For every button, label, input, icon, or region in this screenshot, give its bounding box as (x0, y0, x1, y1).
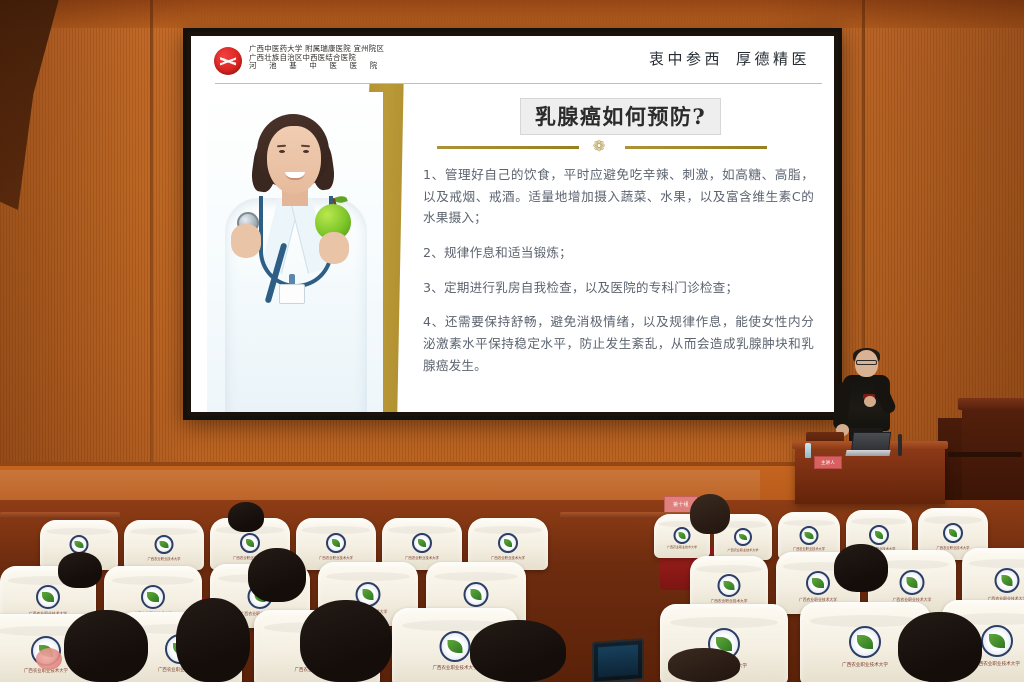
title-divider: ❁ (437, 140, 767, 154)
slide-paragraph-3: 3、定期进行乳房自我检查，以及医院的专科门诊检查； (423, 277, 814, 299)
seat-logo-icon (995, 568, 1020, 593)
seat-logo-text: 广西农业职业技术大学 (405, 555, 439, 560)
seat-logo-icon (900, 570, 925, 595)
audience-head (300, 600, 392, 682)
audience-head (248, 548, 306, 602)
hand-right (319, 232, 349, 264)
laptop-screen (851, 432, 891, 452)
presentation-slide: 广西中医药大学 附属瑞康医院 宜州院区 广西壮族自治区中西医结合医院 河 池 基… (191, 36, 834, 412)
laptop-keyboard (845, 450, 890, 456)
water-bottle (805, 443, 811, 458)
seat-logo-icon (674, 527, 691, 544)
seat-logo-text: 广西农业职业技术大学 (842, 662, 888, 668)
seat-logo-icon (326, 533, 346, 553)
seat-logo-text: 广西农业职业技术大学 (667, 545, 697, 549)
audience-head (176, 598, 250, 682)
divider-bar-left (437, 146, 579, 149)
hospital-name-line-3: 河 池 基 中 医 医 院 (249, 62, 579, 71)
slide-title: 乳腺癌如何预防? (520, 98, 721, 135)
audience-head (58, 552, 102, 588)
seat-logo-icon (806, 571, 830, 595)
speaker-nameplate: 主讲人 (814, 456, 842, 469)
seat-logo-icon (412, 533, 432, 553)
group-number-text: 第十组 (673, 501, 689, 508)
seat-logo-text: 广西农业职业技术大学 (148, 556, 181, 561)
audience-head (470, 620, 566, 682)
microphone-icon (898, 434, 902, 456)
seat-logo-icon (869, 525, 889, 545)
face (267, 126, 321, 194)
hospital-logo-icon (214, 47, 242, 75)
slide-slogan: 衷中参西厚德精医 (649, 48, 810, 69)
eye-right (303, 150, 309, 153)
audience-head (64, 610, 148, 682)
seat-logo-icon (981, 625, 1013, 657)
seat-logo-icon (36, 585, 60, 609)
seat-logo-icon (498, 533, 518, 553)
glasses-icon (856, 360, 877, 365)
presenter-hand-right (864, 396, 876, 407)
seat-logo-icon (141, 585, 165, 609)
audience-head (898, 612, 982, 682)
slogan-left: 衷中参西 (649, 50, 723, 68)
audience-seat: 广西农业职业技术大学 (124, 520, 204, 570)
slide-title-container: 乳腺癌如何预防? (421, 98, 820, 135)
tablet-device (592, 638, 644, 682)
rosette-icon: ❁ (589, 140, 609, 154)
audience-head (668, 648, 740, 682)
seat-logo-text: 广西农业职业技术大学 (793, 546, 825, 551)
seat-logo-icon (849, 626, 881, 658)
slide-header: 广西中医药大学 附属瑞康医院 宜州院区 广西壮族自治区中西医结合医院 河 池 基… (191, 36, 834, 84)
divider-bar-right (625, 146, 767, 149)
seat-logo-icon (718, 574, 741, 597)
hand-left (231, 224, 261, 258)
slide-paragraph-2: 2、规律作息和适当锻炼； (423, 242, 814, 264)
slide-paragraph-4: 4、还需要保持舒畅，避免消极情绪，以及规律作息，能使女性内分泌激素水平保持稳定水… (423, 311, 814, 376)
seat-logo-icon (440, 631, 471, 662)
audience-head (834, 544, 888, 592)
lectern-top (958, 398, 1024, 410)
slide-paragraph-1: 1、管理好自己的饮食，平时应避免吃辛辣、刺激，如高糖、高脂，以及戒烟、戒酒。适量… (423, 164, 814, 229)
seat-logo-text: 广西农业职业技术大学 (728, 547, 759, 552)
slogan-right: 厚德精医 (736, 50, 810, 68)
projection-screen-frame: 广西中医药大学 附属瑞康医院 宜州院区 广西壮族自治区中西医结合医院 河 池 基… (183, 28, 842, 420)
seat-logo-icon (943, 523, 963, 543)
seat-logo-text: 广西农业职业技术大学 (433, 665, 478, 671)
seat-logo-icon (800, 526, 819, 545)
doctor-photo (207, 92, 383, 412)
wall-shading-left (0, 0, 200, 470)
decorative-flower (36, 648, 62, 670)
seat-logo-icon (155, 535, 174, 554)
id-badge (279, 284, 305, 304)
slide-body: 1、管理好自己的饮食，平时应避免吃辛辣、刺激，如高糖、高脂，以及戒烟、戒酒。适量… (423, 164, 814, 389)
header-divider-line (215, 83, 822, 84)
seat-logo-text: 广西农业职业技术大学 (974, 661, 1020, 667)
seat-logo-text: 广西农业职业技术大学 (319, 555, 353, 560)
seat-logo-icon (240, 533, 260, 553)
seat-logo-icon (464, 582, 489, 607)
speaker-nameplate-text: 主讲人 (815, 457, 841, 468)
hospital-name-block: 广西中医药大学 附属瑞康医院 宜州院区 广西壮族自治区中西医结合医院 河 池 基… (249, 45, 579, 71)
audience-head (690, 494, 730, 534)
seat-logo-icon (734, 528, 752, 546)
audience-head (228, 502, 264, 532)
audience-desk-bar (0, 512, 120, 519)
eye-left (279, 150, 285, 153)
seat-logo-text: 广西农业职业技术大学 (491, 555, 525, 560)
projection-screen: 广西中医药大学 附属瑞康医院 宜州院区 广西壮族自治区中西医结合医院 河 池 基… (191, 36, 834, 412)
lectern-shelf (948, 452, 1022, 457)
lecture-hall-scene: 广西中医药大学 附属瑞康医院 宜州院区 广西壮族自治区中西医结合医院 河 池 基… (0, 0, 1024, 682)
